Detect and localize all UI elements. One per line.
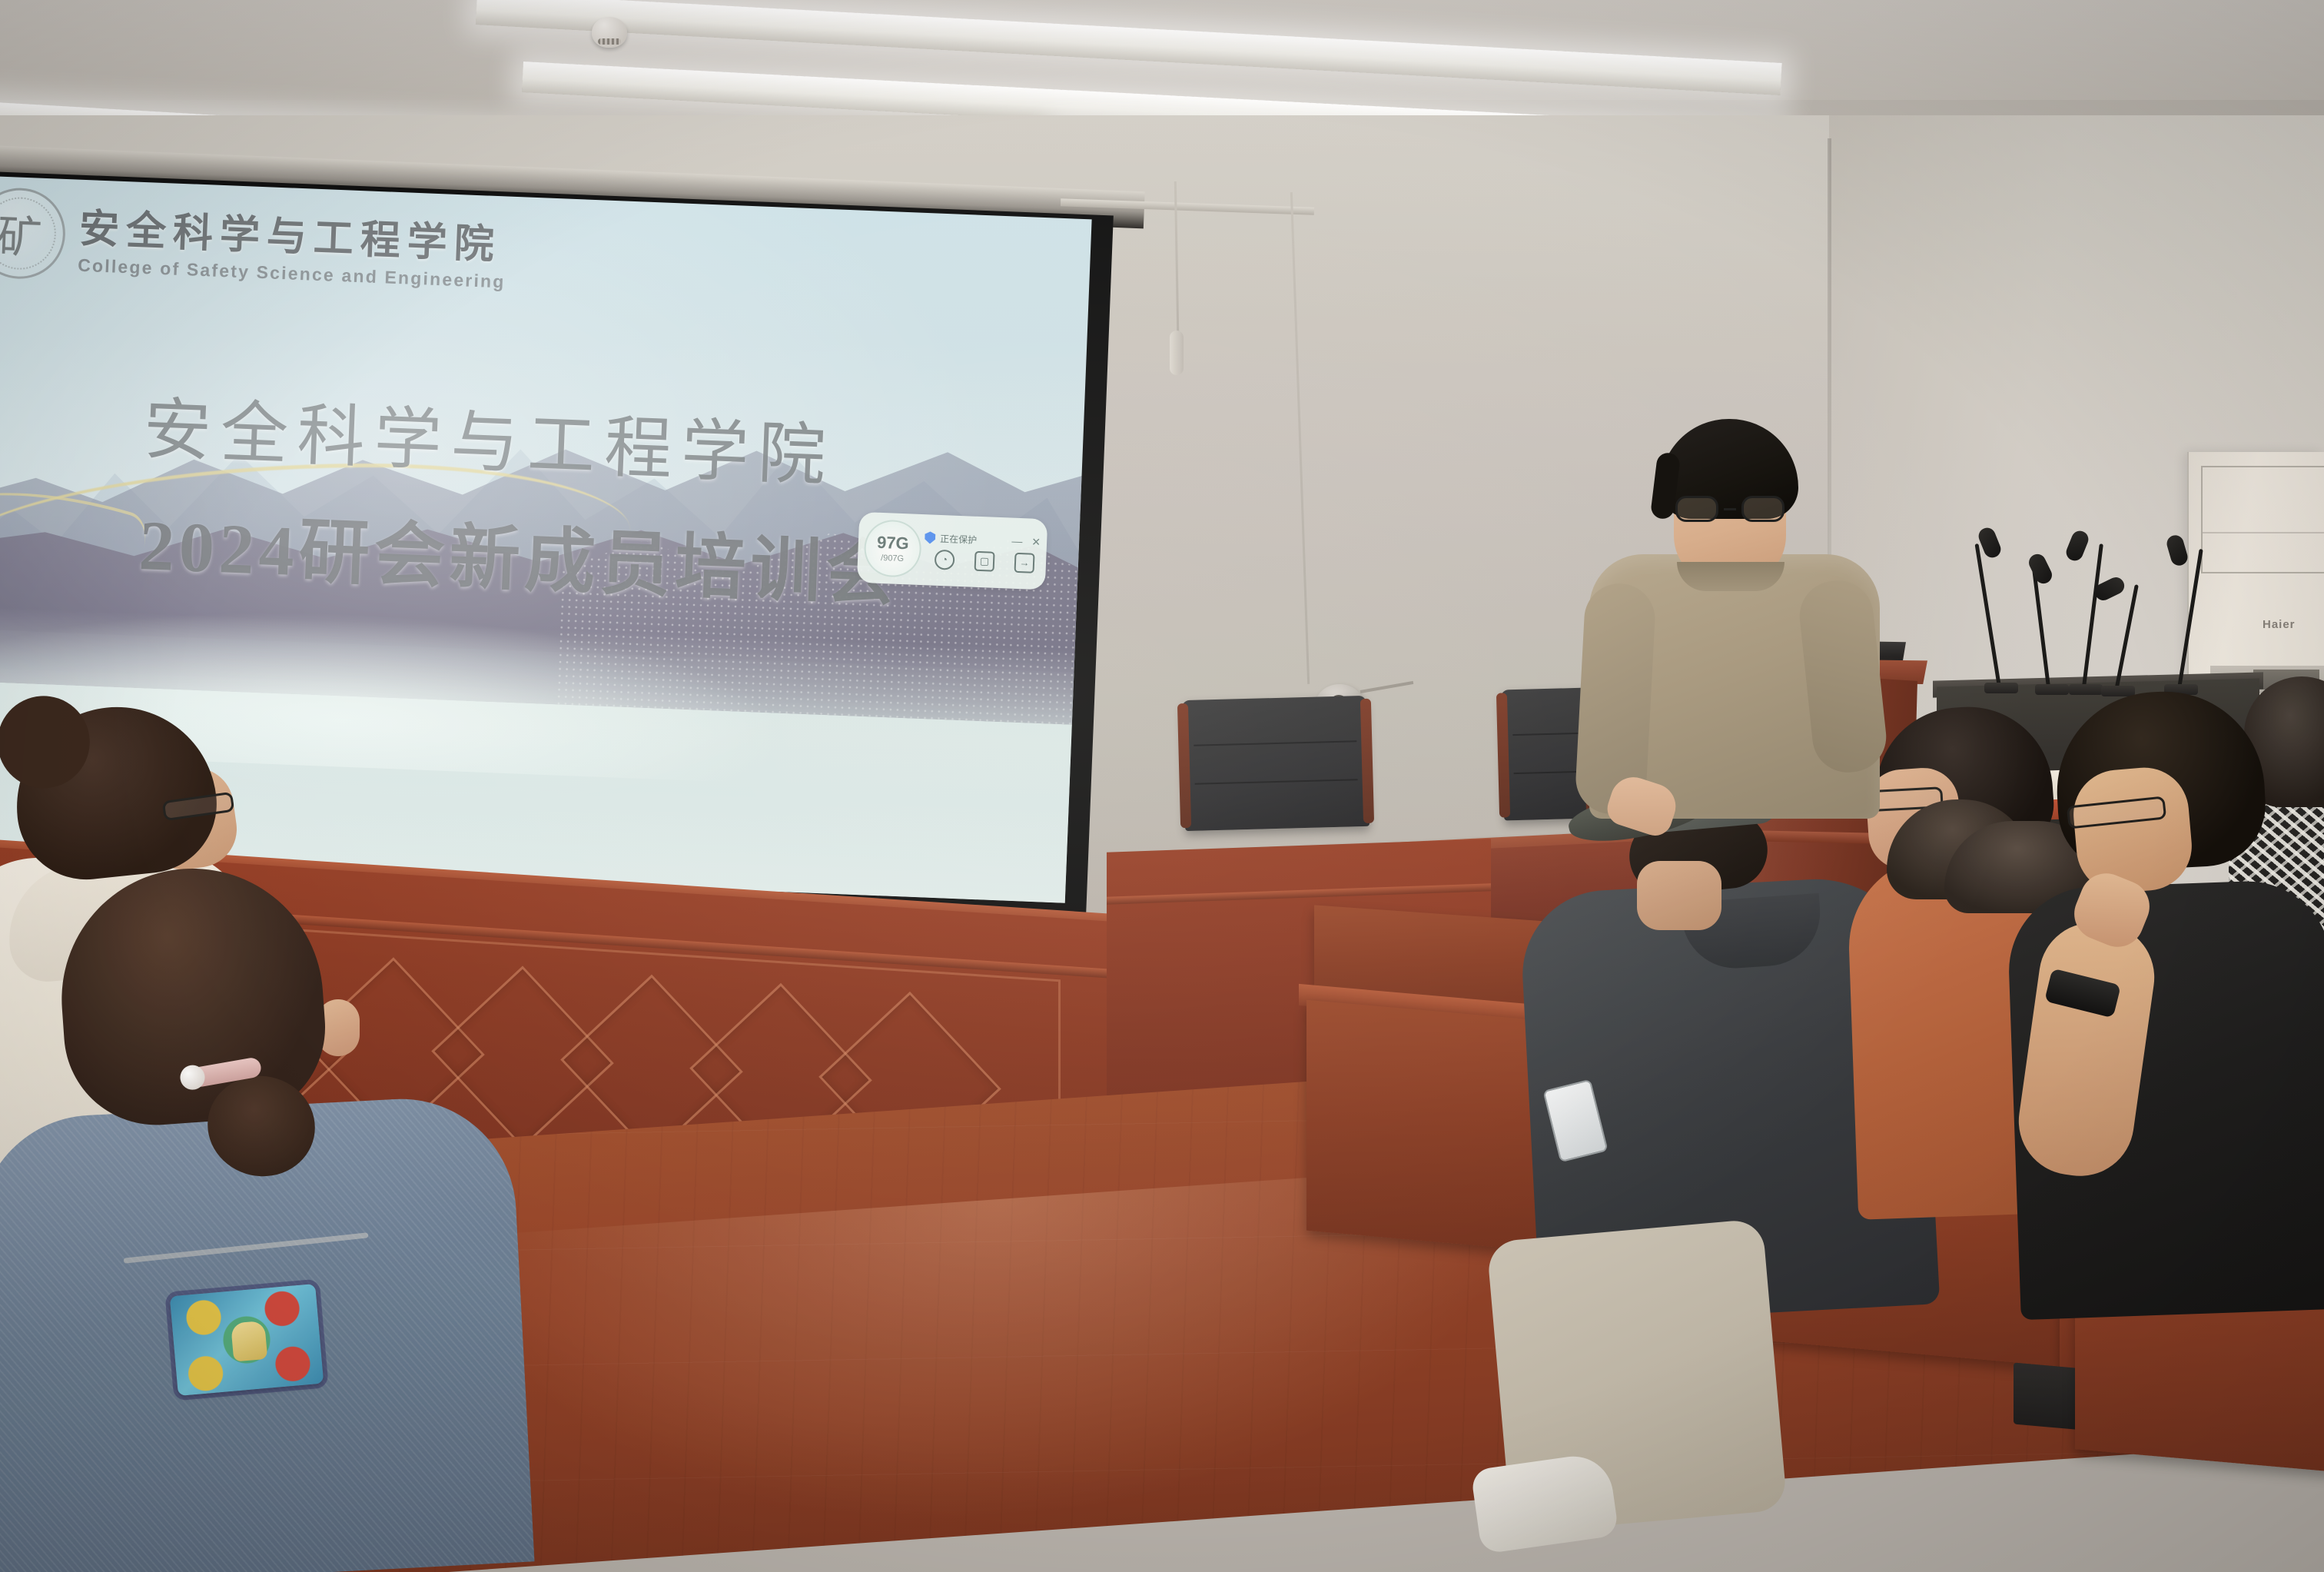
cap-student-neck <box>1637 861 1721 930</box>
storage-used-value: 97G <box>877 533 909 552</box>
presenter-glasses-icon <box>1675 496 1784 522</box>
storage-gauge: 97G /907G <box>863 519 922 578</box>
cord-switch[interactable] <box>1170 331 1184 375</box>
close-icon[interactable]: ✕ <box>1031 537 1041 547</box>
security-status-label: 正在保护 <box>940 531 978 546</box>
stage-chair[interactable] <box>1182 696 1369 831</box>
presenter <box>1575 419 1898 819</box>
clock-icon[interactable]: ◔ <box>935 549 955 570</box>
microphone-icon <box>2106 575 2136 695</box>
microphone-icon <box>2075 533 2106 693</box>
microphone-icon <box>2035 555 2066 693</box>
ac-panel-seam <box>2203 532 2324 533</box>
exit-icon[interactable]: → <box>1014 552 1035 573</box>
lecture-room-photo: 矿 安全科学与工程学院 College of Safety Science an… <box>0 0 2324 1572</box>
folder-icon[interactable]: ▢ <box>974 550 995 571</box>
storage-total-value: /907G <box>881 553 904 563</box>
slide-title-line-1: 安全科学与工程学院 <box>142 374 908 502</box>
smoke-detector-icon <box>592 17 627 48</box>
slide-header: 矿 安全科学与工程学院 College of Safety Science an… <box>0 186 508 297</box>
slide-title-block: 安全科学与工程学院 2024研会新成员培训会 <box>138 374 908 620</box>
microphone-icon <box>1984 530 2015 692</box>
minimize-icon[interactable]: — <box>1011 536 1023 547</box>
presenter-collar <box>1677 562 1784 591</box>
ac-upper-panel <box>2201 466 2324 573</box>
ac-brand-label: Haier <box>2263 618 2296 631</box>
patch-figure <box>231 1321 267 1362</box>
college-logo-icon: 矿 <box>0 186 67 281</box>
cap-student-shoe <box>1470 1451 1619 1554</box>
embroidered-patch <box>170 1284 324 1396</box>
black-tee-face <box>2070 764 2195 896</box>
shield-icon <box>925 531 936 544</box>
security-widget[interactable]: 97G /907G 正在保护 — ✕ ◔ ▢ → <box>857 512 1047 590</box>
microphone-icon <box>2172 540 2203 693</box>
